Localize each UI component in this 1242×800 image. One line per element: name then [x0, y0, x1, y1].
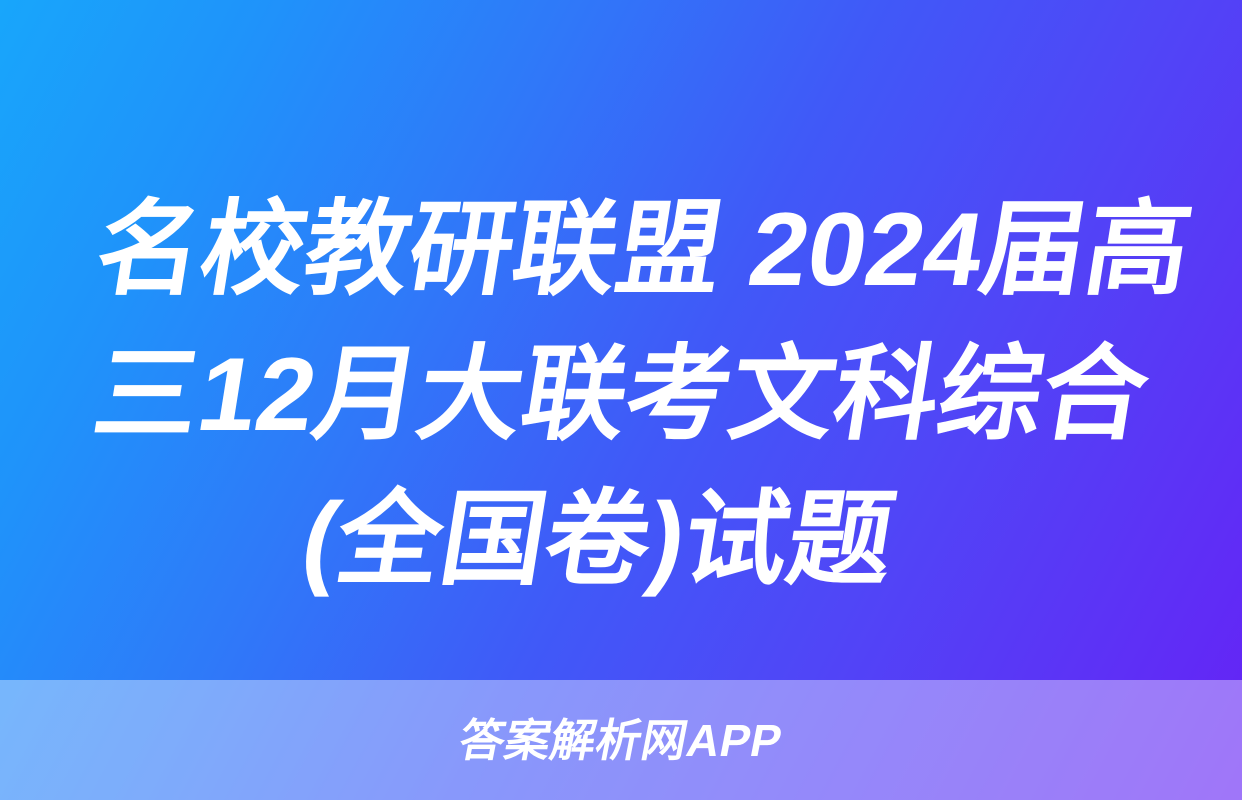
app-brand-label: 答案解析网APP: [456, 718, 786, 763]
title-block: 名校教研联盟 2024届高三12月大联考文科综合(全国卷)试题: [0, 160, 1242, 630]
exam-cover-card: 名校教研联盟 2024届高三12月大联考文科综合(全国卷)试题 答案解析网APP: [0, 0, 1242, 800]
footer-watermark-band: 答案解析网APP: [0, 680, 1242, 800]
page-title: 名校教研联盟 2024届高三12月大联考文科综合(全国卷)试题: [24, 178, 1219, 613]
